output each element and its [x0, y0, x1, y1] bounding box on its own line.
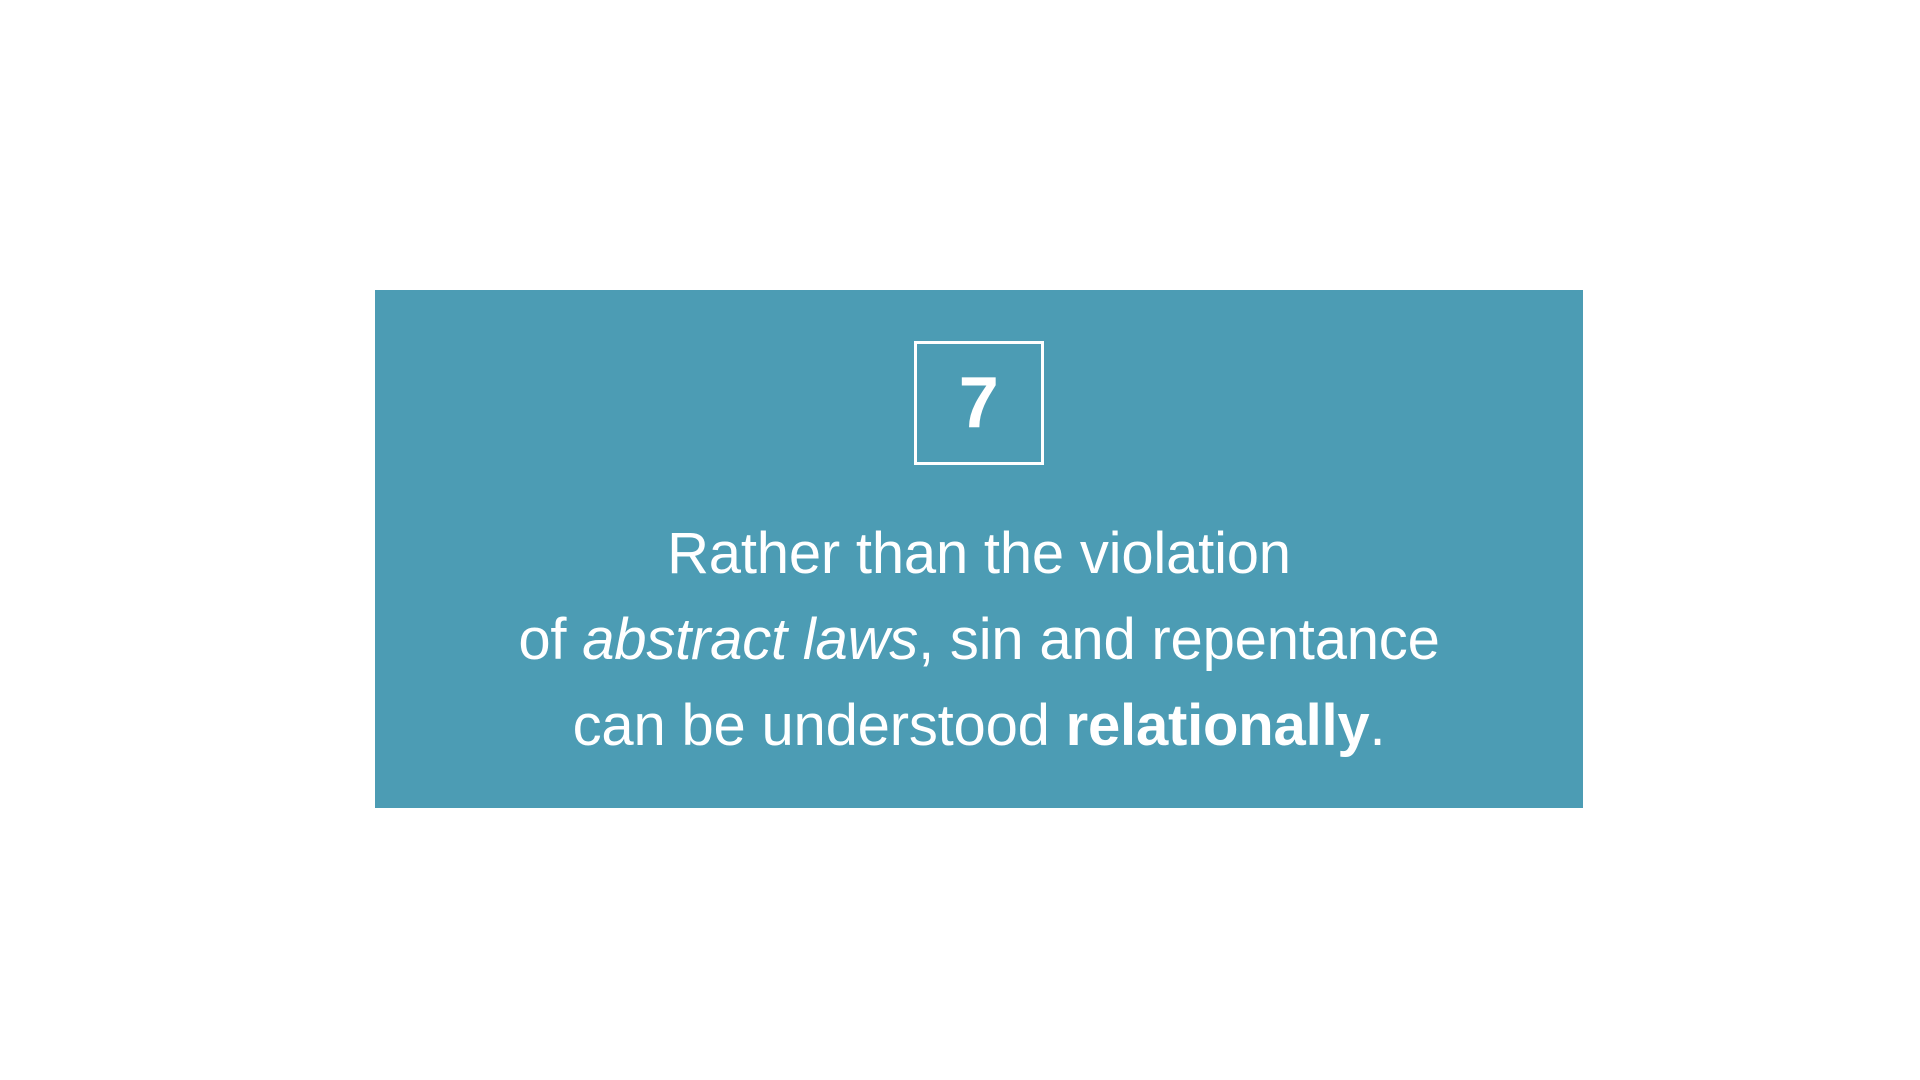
quote-segment-normal: , sin and repentance [918, 607, 1440, 672]
quote-line: of abstract laws, sin and repentance [429, 597, 1529, 683]
quote-segment-normal: Rather than the violation [667, 521, 1291, 586]
quote-line: Rather than the violation [429, 511, 1529, 597]
number-badge-value: 7 [959, 367, 1000, 439]
number-badge: 7 [914, 341, 1044, 465]
slide-canvas: 7 Rather than the violationof abstract l… [0, 0, 1920, 1080]
quote-panel: 7 Rather than the violationof abstract l… [375, 290, 1583, 808]
quote-line: can be understood relationally. [429, 683, 1529, 769]
quote-segment-normal: of [518, 607, 582, 672]
quote-segment-normal: can be understood [573, 693, 1066, 758]
quote-text: Rather than the violationof abstract law… [429, 511, 1529, 769]
quote-segment-italic: abstract laws [582, 607, 918, 672]
quote-segment-bold: relationally [1066, 693, 1370, 758]
quote-segment-normal: . [1369, 693, 1385, 758]
